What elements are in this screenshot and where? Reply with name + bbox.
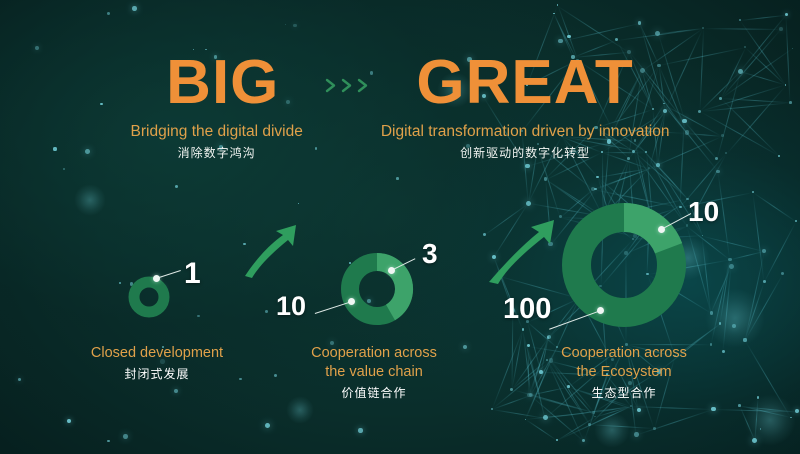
- stage-3-caption-en-line2: the Ecosystem: [508, 363, 740, 382]
- leader-dot-2-left: [348, 298, 355, 305]
- stage-1-value: 1: [184, 259, 201, 289]
- subtitle-row: Bridging the digital divide 消除数字鸿沟 Digit…: [0, 122, 800, 161]
- leader-dot-3-right: [658, 226, 665, 233]
- stage-3-value-right: 10: [688, 198, 719, 226]
- leader-dot-1: [153, 275, 160, 282]
- subtitle-left: Bridging the digital divide 消除数字鸿沟: [131, 122, 303, 161]
- chevron-right-icon: [325, 78, 338, 93]
- stage-1-caption: Closed development 封闭式发展: [22, 344, 292, 382]
- subtitle-right-en: Digital transformation driven by innovat…: [381, 122, 670, 141]
- stage-3-caption-cn: 生态型合作: [508, 384, 740, 401]
- stage-2-value-left: 10: [276, 293, 306, 320]
- slide-canvas: BIG GREAT Bridging the digital divide 消除…: [0, 0, 800, 454]
- stage-2-value-right: 3: [422, 240, 438, 268]
- subtitle-left-en: Bridging the digital divide: [131, 122, 303, 141]
- subtitle-right: Digital transformation driven by innovat…: [381, 122, 670, 161]
- stage-2-caption: Cooperation across the value chain 价值链合作: [258, 344, 490, 401]
- subtitle-left-cn: 消除数字鸿沟: [131, 144, 303, 161]
- stage-3-caption: Cooperation across the Ecosystem 生态型合作: [508, 344, 740, 401]
- growth-arrow-icon: [487, 216, 559, 289]
- stage-2-caption-en-line2: the value chain: [258, 363, 490, 382]
- stage-3-value-left: 100: [503, 295, 551, 324]
- chevron-right-icon: [325, 78, 370, 93]
- chevron-right-icon: [357, 78, 370, 93]
- subtitle-right-cn: 创新驱动的数字化转型: [381, 144, 670, 161]
- leader-dot-2-right: [388, 267, 395, 274]
- donut-chart-3: [557, 198, 691, 337]
- stage-1-caption-cn: 封闭式发展: [22, 365, 292, 382]
- headline-great: GREAT: [416, 52, 633, 114]
- leader-dot-3-left: [597, 307, 604, 314]
- growth-arrow-icon: [243, 222, 301, 283]
- donut-chart-1: [128, 276, 170, 323]
- stage-2-caption-en-line1: Cooperation across: [258, 344, 490, 363]
- donut-chart-2: [338, 250, 416, 333]
- stage-3-caption-en-line1: Cooperation across: [508, 344, 740, 363]
- stage-1-caption-en: Closed development: [22, 344, 292, 363]
- chevron-right-icon: [341, 78, 354, 93]
- stage-2-caption-cn: 价值链合作: [258, 384, 490, 401]
- headline-big: BIG: [166, 52, 279, 114]
- headline-row: BIG GREAT: [0, 52, 800, 114]
